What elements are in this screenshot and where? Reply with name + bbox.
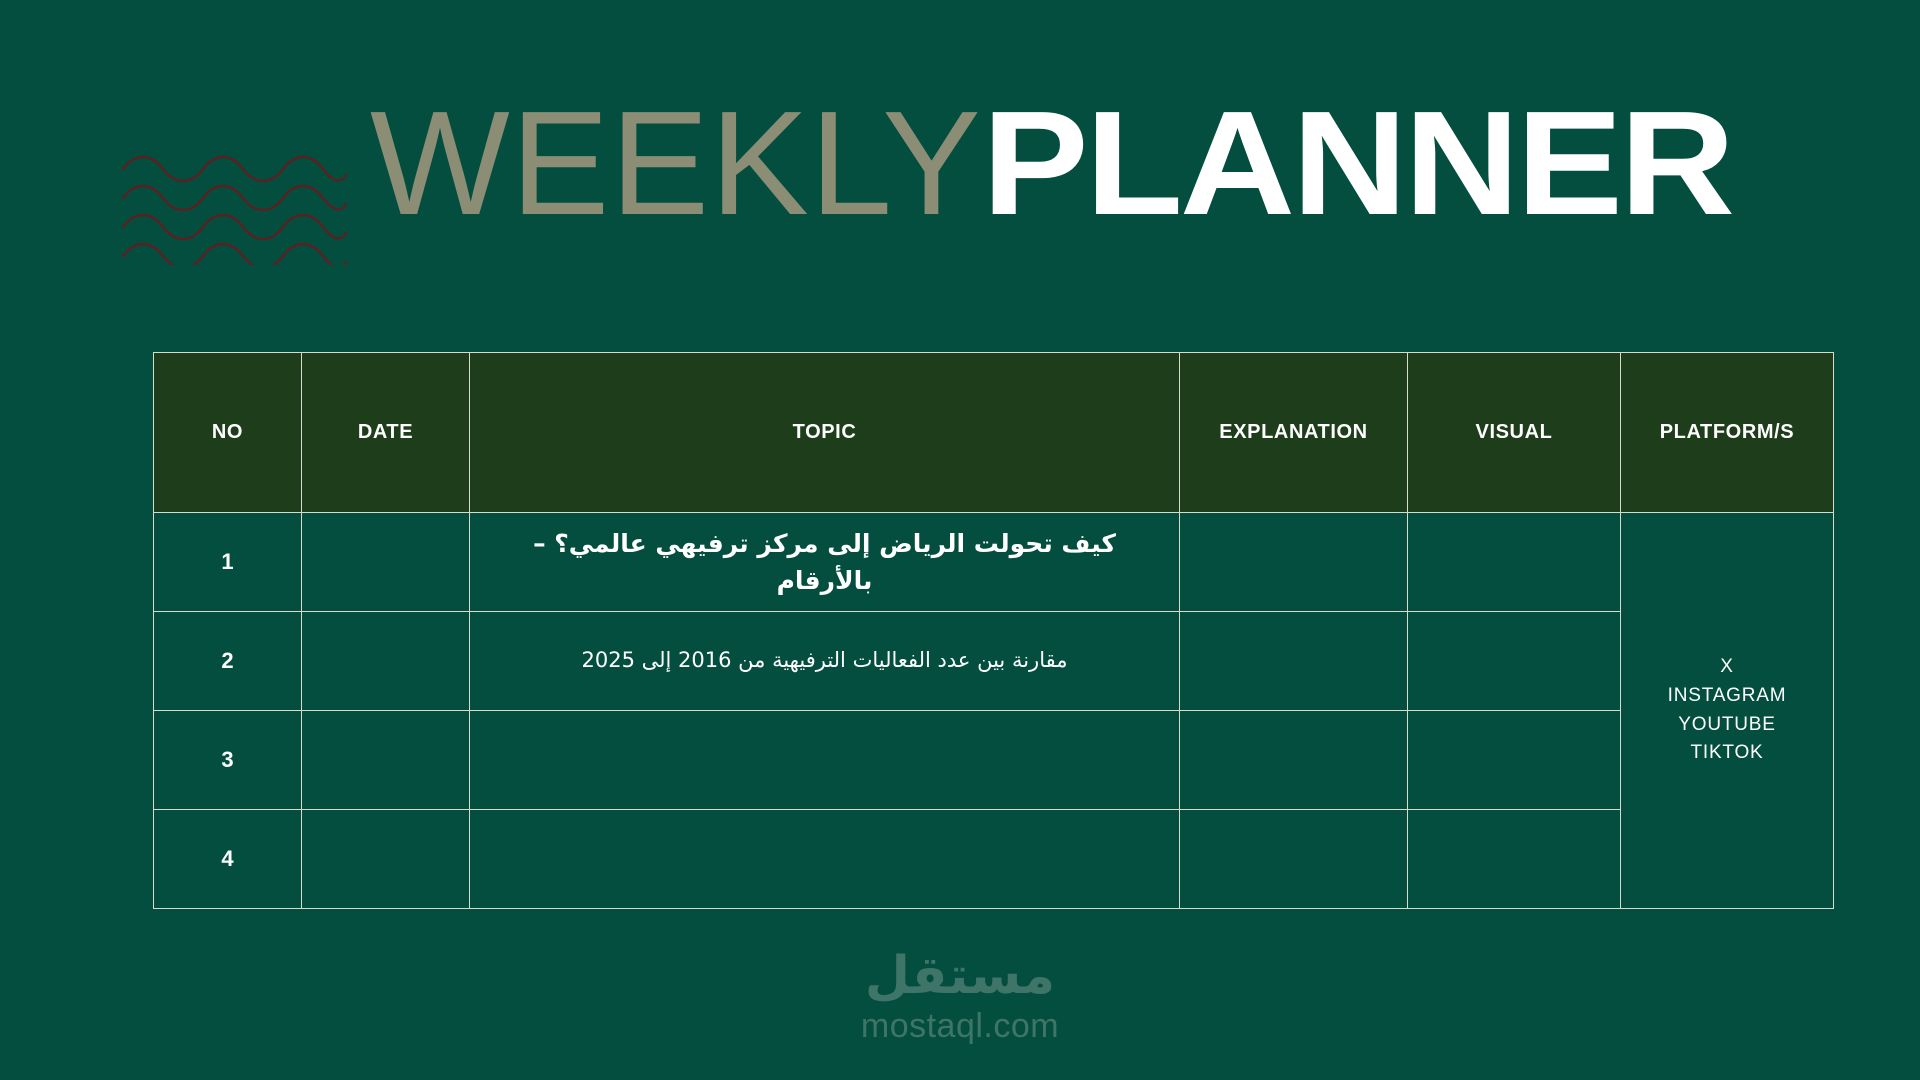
- page-title-weekly: WEEKLY: [370, 90, 982, 238]
- wavy-lines-decoration: [118, 155, 348, 265]
- row-topic-text: كيف تحولت الرياض إلى مركز ترفيهي عالمي؟ …: [496, 525, 1153, 600]
- table-row: 4: [154, 810, 1834, 909]
- column-header-explanation: EXPLANATION: [1180, 353, 1408, 513]
- row-topic-text: مقارنة بين عدد الفعاليات الترفيهية من 20…: [496, 645, 1153, 677]
- row-explanation-cell[interactable]: [1180, 810, 1408, 909]
- platforms-cell[interactable]: X INSTAGRAM YOUTUBE TIKTOK: [1621, 513, 1834, 909]
- row-number-cell: 4: [154, 810, 302, 909]
- platform-item-instagram: INSTAGRAM: [1621, 682, 1833, 711]
- column-header-platforms: PLATFORM/S: [1621, 353, 1834, 513]
- row-visual-cell[interactable]: [1408, 513, 1621, 612]
- row-date-cell[interactable]: [302, 810, 470, 909]
- row-explanation-cell[interactable]: [1180, 513, 1408, 612]
- row-visual-cell[interactable]: [1408, 711, 1621, 810]
- row-number-cell: 1: [154, 513, 302, 612]
- table-row: 3: [154, 711, 1834, 810]
- row-visual-cell[interactable]: [1408, 810, 1621, 909]
- mostaql-logo-arabic: مستقل: [861, 950, 1059, 1002]
- row-number-cell: 2: [154, 612, 302, 711]
- row-explanation-cell[interactable]: [1180, 612, 1408, 711]
- row-number-cell: 3: [154, 711, 302, 810]
- platform-item-tiktok: TIKTOK: [1621, 739, 1833, 768]
- mostaql-watermark: مستقل mostaql.com: [861, 950, 1059, 1045]
- row-date-cell[interactable]: [302, 513, 470, 612]
- mostaql-logo-domain: mostaql.com: [861, 1008, 1059, 1045]
- platform-item-x: X: [1621, 653, 1833, 682]
- column-header-visual: VISUAL: [1408, 353, 1621, 513]
- row-topic-cell[interactable]: كيف تحولت الرياض إلى مركز ترفيهي عالمي؟ …: [470, 513, 1180, 612]
- row-topic-cell[interactable]: [470, 810, 1180, 909]
- column-header-topic: TOPIC: [470, 353, 1180, 513]
- table-row: 2 مقارنة بين عدد الفعاليات الترفيهية من …: [154, 612, 1834, 711]
- column-header-date: DATE: [302, 353, 470, 513]
- row-explanation-cell[interactable]: [1180, 711, 1408, 810]
- page-header: WEEKLY PLANNER: [0, 0, 1920, 270]
- table-row: 1 كيف تحولت الرياض إلى مركز ترفيهي عالمي…: [154, 513, 1834, 612]
- row-date-cell[interactable]: [302, 711, 470, 810]
- column-header-no: NO: [154, 353, 302, 513]
- row-date-cell[interactable]: [302, 612, 470, 711]
- row-topic-cell[interactable]: مقارنة بين عدد الفعاليات الترفيهية من 20…: [470, 612, 1180, 711]
- page-title: WEEKLY PLANNER: [370, 90, 1676, 238]
- platform-item-youtube: YOUTUBE: [1621, 711, 1833, 740]
- weekly-planner-table: NO DATE TOPIC EXPLANATION VISUAL PLATFOR…: [153, 352, 1834, 909]
- table-header-row: NO DATE TOPIC EXPLANATION VISUAL PLATFOR…: [154, 353, 1834, 513]
- row-topic-cell[interactable]: [470, 711, 1180, 810]
- row-visual-cell[interactable]: [1408, 612, 1621, 711]
- page-title-planner: PLANNER: [982, 90, 1732, 238]
